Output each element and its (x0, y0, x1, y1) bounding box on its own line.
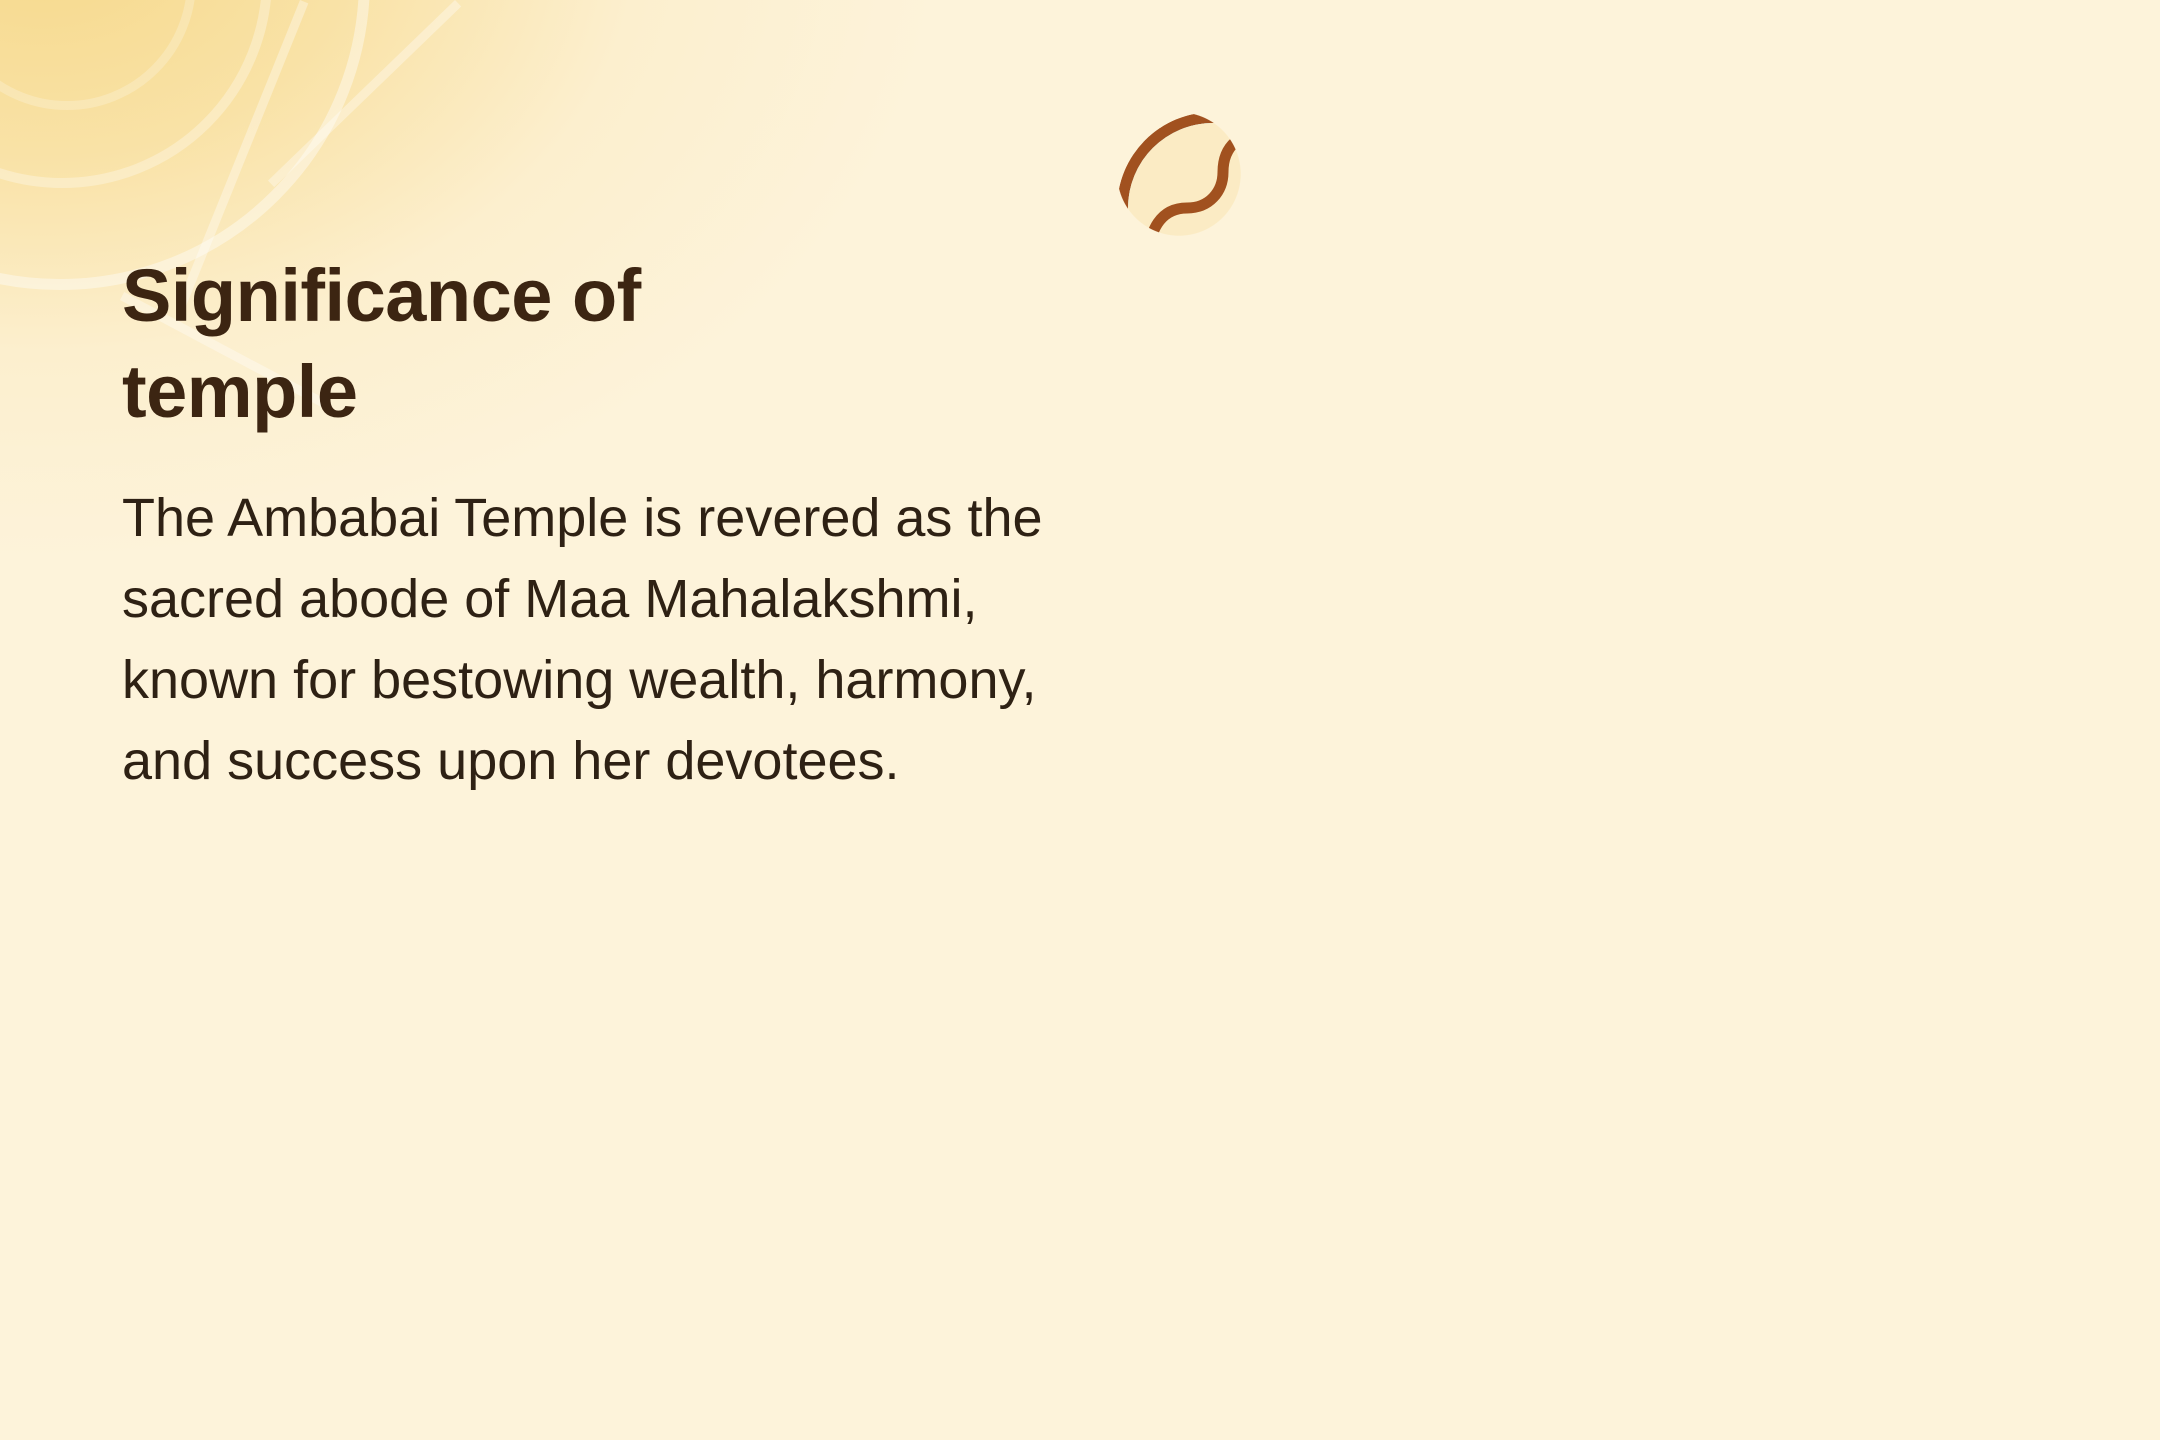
blue-pole (1254, 1083, 1264, 1273)
waste-bin-lid (1888, 1297, 1948, 1309)
slide-canvas: Significance of temple The Ambabai Templ… (0, 0, 2160, 1440)
temple-photograph: a (1128, 123, 2160, 1319)
page-title: Significance of temple (122, 248, 822, 440)
body-paragraph: The Ambabai Temple is revered as the sac… (122, 478, 1062, 802)
decorative-circle-middle (0, 0, 272, 188)
wall-letter-a: a (1788, 961, 1811, 1014)
decorative-circle-outer (0, 0, 370, 290)
decorative-circle-inner (0, 0, 196, 110)
decorative-ray-2 (268, 0, 461, 187)
temple-photo-frame: a (1117, 112, 2160, 1330)
text-column: Significance of temple The Ambabai Templ… (122, 248, 1062, 802)
